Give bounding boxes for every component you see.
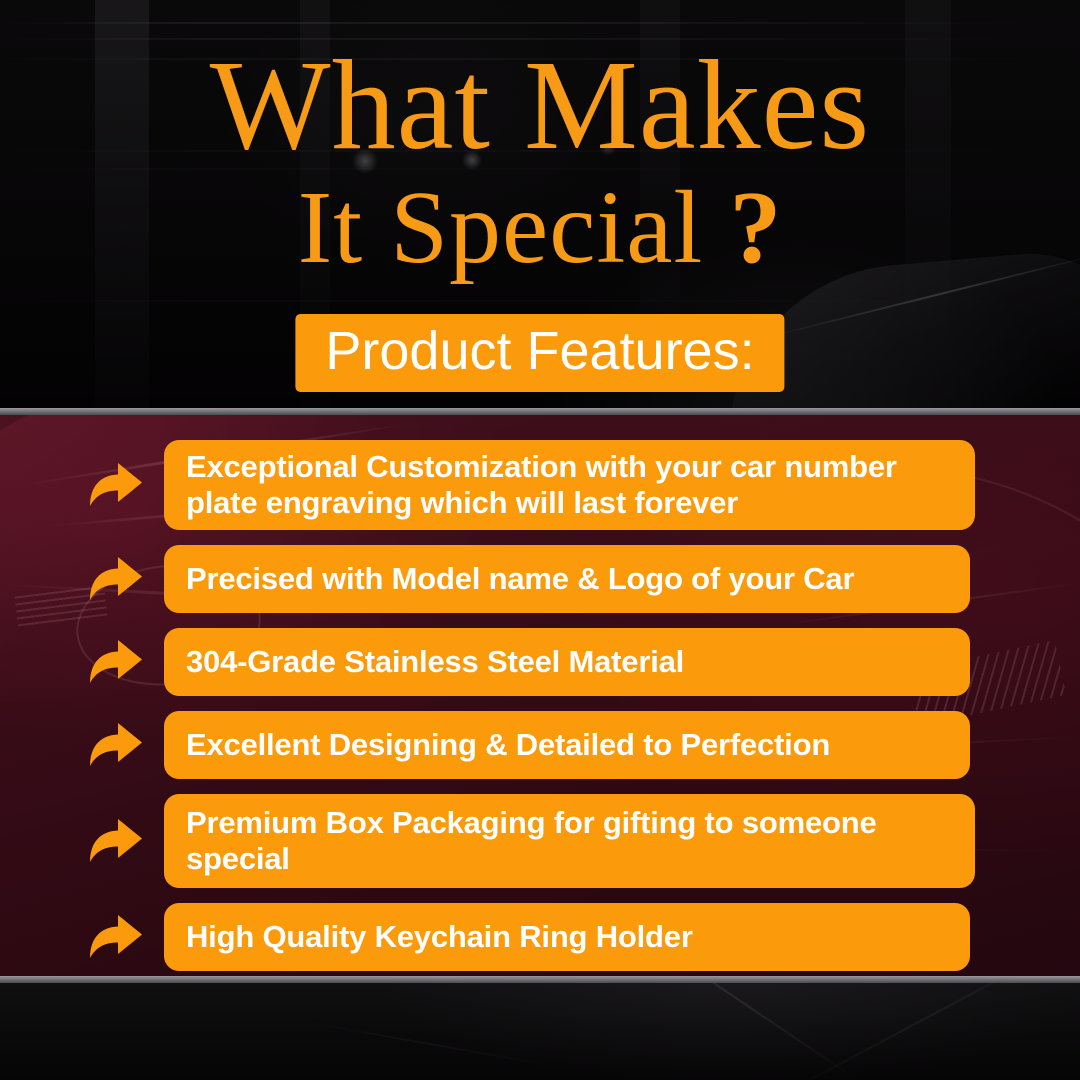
feature-row: Precised with Model name & Logo of your … [0,545,1080,613]
background-floor-seam [302,1020,558,1067]
headline-question-mark: ? [729,170,782,285]
curved-arrow-icon [88,911,144,963]
feature-row: Premium Box Packaging for gifting to som… [0,794,1080,888]
feature-pill: Premium Box Packaging for gifting to som… [164,794,975,888]
headline-line-1: What Makes [0,42,1080,169]
feature-list: Exceptional Customization with your car … [0,440,1080,971]
promo-poster: What Makes It Special? Product Features:… [0,0,1080,1080]
feature-row: Exceptional Customization with your car … [0,440,1080,530]
product-features-banner: Product Features: [295,314,784,392]
divider-top [0,408,1080,415]
background-beam [0,22,1080,24]
background-floor-seam [605,983,855,1079]
feature-pill: Excellent Designing & Detailed to Perfec… [164,711,970,779]
divider-bottom [0,976,1080,983]
headline-line-2: It Special? [0,177,1080,280]
feature-pill: High Quality Keychain Ring Holder [164,903,970,971]
feature-row: Excellent Designing & Detailed to Perfec… [0,711,1080,779]
curved-arrow-icon [88,719,144,771]
feature-pill: Precised with Model name & Logo of your … [164,545,970,613]
feature-pill: 304-Grade Stainless Steel Material [164,628,970,696]
feature-pill: Exceptional Customization with your car … [164,440,975,530]
curved-arrow-icon [88,815,144,867]
feature-row: 304-Grade Stainless Steel Material [0,628,1080,696]
background-bottom-floor [0,983,1080,1080]
feature-row: High Quality Keychain Ring Holder [0,903,1080,971]
background-floor-seam [779,983,1080,1080]
curved-arrow-icon [88,459,144,511]
headline: What Makes It Special? [0,42,1080,280]
curved-arrow-icon [88,636,144,688]
curved-arrow-icon [88,553,144,605]
headline-line-2-text: It Special [298,170,704,285]
